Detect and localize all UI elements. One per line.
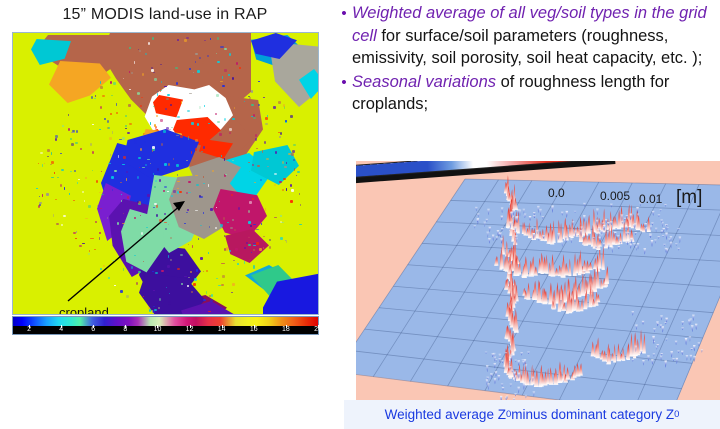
map-pixel-speckle (232, 77, 235, 80)
map-pixel-speckle (260, 179, 262, 180)
bullet-text: Weighted average of all veg/soil types i… (352, 2, 720, 70)
map-pixel-speckle (95, 95, 96, 97)
map-pixel-speckle (101, 194, 104, 195)
map-pixel-speckle (164, 163, 167, 166)
surface-depression (501, 360, 504, 363)
surface-spike (568, 258, 571, 276)
surface-depression (653, 353, 656, 356)
caption-text-1: Weighted average Z (385, 407, 506, 422)
surface-depression (675, 243, 678, 246)
surface-depression (618, 246, 621, 249)
map-pixel-speckle (68, 114, 69, 117)
map-pixel-speckle (131, 266, 133, 269)
map-pixel-speckle (232, 219, 234, 221)
surface-depression (501, 384, 504, 386)
modis-landuse-map: cropland (13, 33, 318, 314)
map-pixel-speckle (75, 142, 77, 144)
map-pixel-speckle (162, 123, 164, 125)
surface-depression (501, 228, 504, 231)
map-pixel-speckle (160, 119, 163, 122)
surface-depression (631, 311, 634, 316)
map-pixel-speckle (104, 118, 107, 120)
surface-spike (586, 235, 591, 245)
map-pixel-speckle (196, 184, 199, 186)
map-pixel-speckle (125, 125, 127, 127)
map-pixel-speckle (267, 166, 269, 167)
map-pixel-speckle (189, 68, 191, 70)
surface-depression (487, 209, 490, 216)
surface-depression (611, 247, 614, 253)
surface-depression (677, 228, 680, 231)
map-colorbar: 2468101214161820 (13, 317, 318, 334)
map-pixel-speckle (140, 148, 142, 151)
map-pixel-speckle (119, 139, 122, 140)
surface-depression (529, 216, 532, 221)
surface-depression (501, 216, 504, 221)
map-pixel-speckle (112, 131, 113, 134)
surface-depression (698, 342, 701, 346)
list-item: • Seasonal variations of roughness lengt… (336, 71, 720, 116)
map-pixel-speckle (238, 207, 240, 210)
map-pixel-speckle (120, 182, 122, 183)
map-pixel-speckle (223, 217, 226, 220)
surface-depression (689, 336, 692, 342)
map-pixel-speckle (88, 205, 90, 208)
map-pixel-speckle (180, 135, 183, 138)
surface-depression (642, 360, 645, 366)
surface-depression (653, 341, 656, 344)
map-pixel-speckle (248, 244, 251, 246)
map-pixel-speckle (220, 81, 223, 82)
colorbar-tick-label: 10 (154, 325, 162, 334)
map-pixel-speckle (125, 115, 128, 117)
map-pixel-speckle (126, 171, 128, 173)
map-pixel-speckle (224, 69, 227, 72)
surface-depression (498, 358, 501, 362)
colorbar-tick-label: 12 (186, 325, 194, 334)
map-pixel-speckle (212, 170, 214, 172)
map-pixel-speckle (64, 187, 65, 190)
map-pixel-speckle (39, 202, 42, 204)
map-pixel-speckle (244, 261, 246, 264)
surface-depression (664, 360, 667, 367)
map-pixel-speckle (192, 245, 194, 248)
map-pixel-speckle (153, 173, 154, 175)
map-pixel-speckle (163, 130, 165, 133)
surface-depression (531, 226, 534, 229)
plot-colorbar-tick-0: 0.0 (548, 186, 565, 200)
map-panel: 15” MODIS land-use in RAP (0, 0, 332, 429)
surface-depression (527, 352, 530, 354)
surface-depression (502, 387, 505, 391)
plot-colorbar-tick-2: 0.01 (639, 192, 662, 206)
map-pixel-speckle (259, 248, 262, 250)
surface-spike (528, 222, 531, 238)
map-pixel-speckle (220, 46, 223, 48)
list-item: • Weighted average of all veg/soil types… (336, 2, 720, 70)
surface-depression (701, 349, 704, 353)
map-pixel-speckle (137, 176, 139, 179)
map-pixel-speckle (77, 182, 78, 184)
map-pixel-speckle (96, 180, 98, 183)
map-pixel-speckle (153, 72, 155, 73)
map-pixel-speckle (89, 250, 91, 252)
surface-depression (693, 356, 696, 362)
surface-spike (629, 333, 633, 357)
surface-depression (486, 365, 489, 372)
surface-depression (605, 219, 608, 223)
surface-depression (688, 320, 691, 326)
surface-depression (651, 240, 654, 247)
map-pixel-speckle (191, 122, 194, 125)
surface-depression (665, 339, 668, 341)
plot-colorbar-tick-1: 0.005 (600, 189, 630, 203)
map-pixel-speckle (292, 150, 295, 153)
map-pixel-speckle (261, 223, 262, 225)
surface-depression (633, 243, 636, 248)
map-pixel-speckle (242, 167, 244, 170)
map-pixel-speckle (145, 53, 146, 55)
map-pixel-speckle (176, 135, 179, 136)
map-pixel-speckle (253, 117, 256, 119)
surface-depression (495, 371, 498, 377)
surface-spike (647, 216, 651, 232)
surface-depression (664, 204, 667, 207)
surface-depression (583, 203, 586, 207)
map-pixel-speckle (210, 208, 213, 211)
map-pixel-speckle (288, 153, 291, 155)
map-pixel-speckle (129, 123, 132, 125)
map-pixel-speckle (92, 124, 94, 125)
map-pixel-speckle (215, 113, 217, 115)
surface-spike (552, 220, 555, 243)
map-pixel-speckle (278, 101, 281, 104)
surface-depression (670, 242, 673, 249)
surface-depression (642, 321, 645, 325)
bullet-rest: for surface/soil parameters (roughness, … (352, 27, 702, 68)
map-pixel-speckle (207, 71, 209, 74)
surface-depression (657, 236, 660, 238)
map-pixel-speckle (280, 132, 282, 135)
surface-depression (561, 241, 564, 247)
map-pixel-speckle (200, 257, 203, 260)
surface-depression (486, 232, 489, 238)
surface-depression (664, 322, 667, 324)
surface-depression (662, 228, 665, 232)
map-pixel-speckle (127, 132, 130, 134)
surface-depression (485, 352, 488, 354)
surface-depression (610, 204, 613, 208)
map-pixel-speckle (195, 148, 197, 151)
page-title: 15” MODIS land-use in RAP (0, 6, 330, 24)
caption-text-2: minus dominant category Z (511, 407, 674, 422)
map-pixel-speckle (208, 252, 209, 254)
map-pixel-speckle (82, 243, 85, 244)
map-pixel-speckle (99, 129, 101, 131)
map-pixel-speckle (269, 246, 271, 249)
surface-depression (643, 248, 646, 254)
surface-depression (679, 237, 682, 244)
map-pixel-speckle (253, 265, 255, 268)
surface-depression (514, 360, 517, 362)
surface-depression (665, 233, 668, 240)
surface-spike (546, 368, 549, 384)
map-pixel-speckle (51, 161, 54, 164)
map-pixel-speckle (154, 78, 157, 80)
surface-depression (488, 227, 491, 232)
colorbar-tick-label: 20 (314, 325, 322, 334)
map-pixel-speckle (126, 295, 129, 298)
map-pixel-speckle (232, 283, 235, 286)
map-pixel-speckle (107, 217, 108, 220)
map-pixel-speckle (191, 291, 192, 293)
map-pixel-speckle (229, 250, 231, 251)
surface-spike (551, 254, 556, 277)
map-pixel-speckle (139, 50, 141, 51)
map-pixel-speckle (249, 201, 252, 204)
map-colorbar-tick-labels: 2468101214161820 (13, 325, 318, 334)
map-pixel-speckle (100, 106, 102, 109)
surface-depression (690, 348, 693, 350)
map-pixel-speckle (232, 160, 235, 161)
colorbar-tick-label: 8 (123, 325, 127, 334)
map-pixel-speckle (286, 240, 287, 243)
surface-spike (580, 298, 584, 311)
map-pixel-speckle (108, 127, 110, 129)
content-panel: • Weighted average of all veg/soil types… (332, 0, 720, 429)
map-pixel-speckle (253, 114, 256, 117)
map-pixel-speckle (280, 237, 283, 240)
map-pixel-speckle (250, 123, 253, 124)
surface-depression (692, 315, 695, 321)
colorbar-tick-label: 16 (250, 325, 258, 334)
map-pixel-speckle (232, 118, 235, 120)
surface-depression (541, 216, 544, 218)
map-pixel-speckle (219, 133, 222, 136)
surface-depression (695, 324, 698, 330)
map-pixel-speckle (159, 219, 162, 222)
surface-spike (591, 341, 595, 356)
map-pixel-speckle (85, 177, 88, 179)
surface-spike (536, 217, 540, 238)
surface-depression (510, 384, 513, 387)
map-pixel-speckle (188, 277, 191, 278)
map-pixel-speckle (154, 186, 156, 188)
surface-depression (681, 351, 684, 355)
map-pixel-speckle (193, 283, 196, 286)
map-pixel-speckle (178, 182, 181, 185)
map-pixel-speckle (134, 140, 137, 143)
surface-spike (604, 266, 609, 284)
map-pixel-speckle (97, 205, 98, 208)
map-pixel-speckle (186, 160, 188, 161)
map-pixel-speckle (210, 299, 213, 302)
surface-depression (477, 214, 480, 218)
map-pixel-speckle (282, 161, 284, 164)
surface-depression (654, 239, 657, 243)
map-pixel-speckle (110, 113, 112, 115)
z0-difference-3d-plot: 0.0 0.005 0.01 [m] (356, 161, 720, 400)
surface-spike (639, 330, 643, 354)
surface-depression (523, 209, 526, 214)
surface-depression (666, 227, 669, 229)
surface-depression (533, 391, 536, 397)
surface-depression (660, 315, 663, 320)
map-pixel-speckle (141, 232, 143, 235)
map-pixel-speckle (56, 223, 59, 225)
map-pixel-speckle (203, 299, 206, 302)
map-pixel-speckle (226, 247, 228, 250)
map-pixel-speckle (192, 132, 194, 134)
surface-spike (532, 281, 537, 300)
map-pixel-speckle (164, 213, 166, 215)
map-pixel-speckle (234, 229, 236, 231)
map-pixel-speckle (235, 248, 237, 251)
map-pixel-speckle (176, 164, 179, 167)
surface-depression (494, 378, 497, 384)
surface-depression (629, 244, 632, 249)
surface-spike (566, 367, 571, 380)
surface-depression (574, 211, 577, 213)
map-pixel-speckle (132, 237, 133, 238)
map-pixel-speckle (99, 192, 101, 193)
map-pixel-speckle (253, 245, 256, 246)
map-pixel-speckle (197, 70, 200, 73)
map-pixel-speckle (80, 148, 82, 150)
map-pixel-speckle (265, 123, 268, 126)
surface-depression (686, 355, 689, 361)
map-pixel-speckle (46, 193, 49, 196)
surface-depression (655, 228, 658, 233)
map-pixel-speckle (170, 237, 172, 239)
map-pixel-speckle (253, 224, 256, 225)
surface-depression (475, 207, 478, 211)
surface-depression (520, 352, 523, 355)
surface-spike (580, 273, 584, 296)
surface-depression (473, 225, 476, 228)
map-pixel-speckle (111, 176, 114, 179)
map-pixel-speckle (290, 115, 293, 118)
map-pixel-speckle (158, 307, 160, 309)
surface-depression (496, 237, 499, 241)
map-pixel-speckle (159, 179, 161, 182)
plot-3d-canvas: 0.0 0.005 0.01 [m] (356, 161, 720, 400)
map-pixel-speckle (116, 103, 117, 106)
plot-caption: Weighted average Z0 minus dominant categ… (344, 400, 720, 429)
surface-depression (658, 214, 661, 217)
map-pixel-speckle (188, 136, 190, 139)
colorbar-tick-label: 2 (27, 325, 31, 334)
map-pixel-speckle (211, 294, 213, 296)
map-pixel-speckle (251, 252, 252, 253)
surface-depression (663, 244, 666, 246)
map-pixel-speckle (275, 151, 278, 153)
surface-depression (525, 395, 528, 398)
map-pixel-speckle (224, 235, 225, 238)
map-pixel-speckle (198, 238, 199, 240)
map-pixel-speckle (144, 141, 146, 144)
map-pixel-speckle (55, 135, 58, 138)
map-pixel-speckle (299, 193, 300, 194)
surface-depression (570, 239, 573, 244)
surface-depression (483, 222, 486, 228)
map-pixel-speckle (170, 188, 172, 191)
map-pixel-speckle (90, 238, 93, 239)
map-pixel-speckle (285, 120, 287, 122)
map-pixel-speckle (191, 151, 192, 154)
map-pixel-speckle (159, 298, 161, 301)
map-pixel-speckle (57, 177, 59, 178)
map-pixel-speckle (216, 278, 218, 279)
surface-depression (676, 358, 679, 364)
surface-depression (514, 393, 517, 396)
surface-depression (661, 230, 664, 233)
map-pixel-speckle (148, 42, 150, 44)
surface-depression (632, 359, 635, 362)
map-pixel-speckle (200, 225, 202, 226)
map-pixel-speckle (69, 193, 70, 195)
surface-depression (596, 209, 599, 216)
surface-depression (626, 241, 629, 246)
surface-depression (690, 355, 693, 361)
map-pixel-speckle (176, 82, 178, 85)
bullet-list: • Weighted average of all veg/soil types… (336, 2, 720, 117)
map-pixel-speckle (107, 120, 109, 123)
map-pixel-speckle (117, 222, 120, 225)
surface-depression (651, 223, 654, 226)
surface-depression (493, 363, 496, 368)
map-pixel-speckle (181, 283, 184, 285)
map-pixel-speckle (161, 81, 163, 84)
surface-spike (537, 280, 542, 303)
map-pixel-speckle (283, 104, 285, 107)
surface-depression (672, 358, 675, 361)
colorbar-tick-label: 18 (282, 325, 290, 334)
surface-depression (668, 239, 671, 242)
surface-spike (602, 246, 605, 270)
surface-depression (635, 325, 638, 330)
surface-depression (636, 207, 639, 214)
surface-depression (533, 215, 536, 218)
surface-depression (523, 383, 526, 390)
map-pixel-speckle (221, 155, 223, 157)
map-pixel-speckle (190, 271, 192, 273)
map-pixel-speckle (264, 141, 266, 143)
map-pixel-speckle (177, 191, 179, 194)
colorbar-tick-label: 14 (218, 325, 226, 334)
map-pixel-speckle (114, 170, 117, 172)
surface-depression (647, 355, 650, 361)
map-pixel-speckle (168, 163, 170, 166)
surface-depression (675, 341, 678, 345)
map-pixel-speckle (123, 268, 124, 271)
map-pixel-speckle (217, 37, 219, 40)
map-pixel-speckle (161, 143, 163, 146)
surface-depression (498, 375, 501, 381)
surface-depression (522, 361, 525, 366)
map-pixel-speckle (227, 222, 228, 223)
map-pixel-speckle (146, 227, 147, 228)
map-pixel-speckle (116, 112, 118, 113)
map-pixel-speckle (248, 221, 251, 223)
map-pixel-speckle (257, 165, 260, 167)
surface-spike (622, 347, 625, 361)
map-pixel-speckle (142, 73, 144, 76)
colorbar-tick-label: 4 (59, 325, 63, 334)
map-pixel-speckle (286, 188, 287, 191)
bullet-emphasis: Seasonal variations (352, 73, 496, 91)
surface-depression (539, 209, 542, 216)
